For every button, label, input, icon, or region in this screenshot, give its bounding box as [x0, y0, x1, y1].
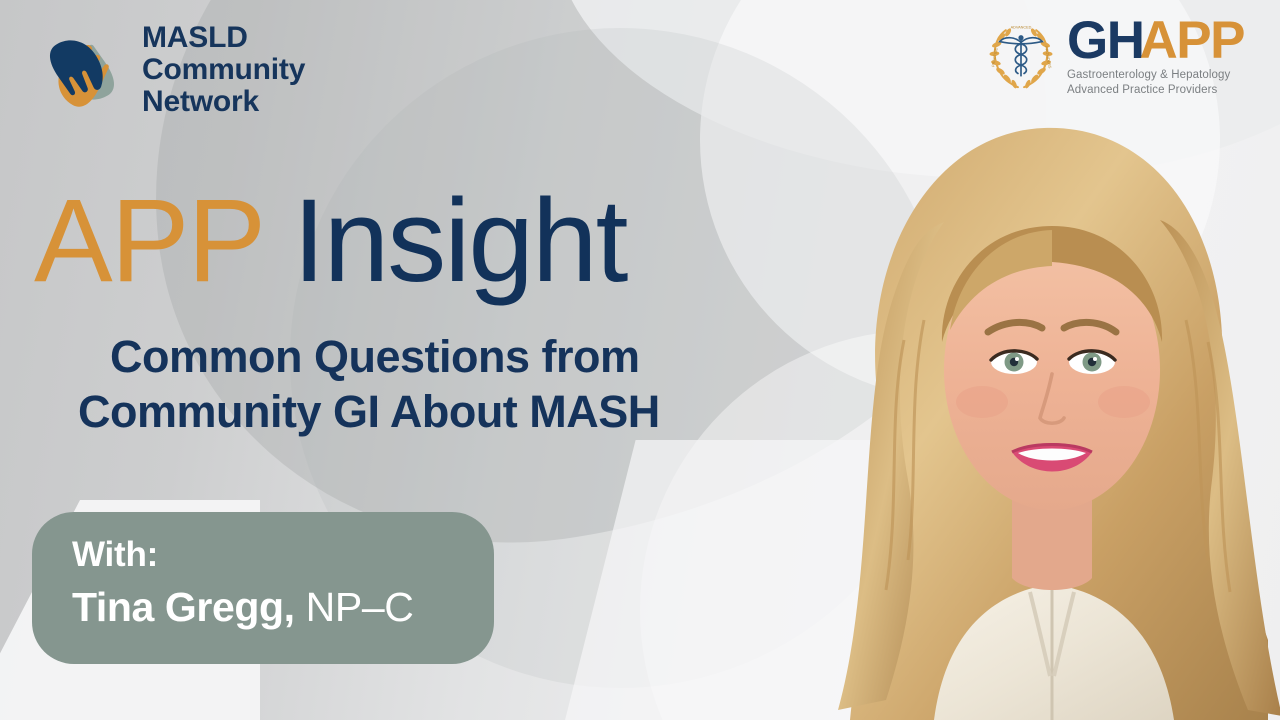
portrait-illustration: [816, 80, 1280, 720]
masld-logo-line2: Community: [142, 54, 305, 86]
masld-logo-line1: MASLD: [142, 22, 305, 54]
page-subtitle-line1: Common Questions from: [110, 331, 640, 382]
ghapp-wordmark: GHAPP: [1067, 16, 1244, 66]
speaker-portrait-photo: [816, 80, 1280, 720]
speaker-credentials: NP–C: [306, 584, 414, 630]
speaker-name-row: Tina Gregg, NP–C: [72, 585, 494, 630]
speaker-name: Tina Gregg,: [72, 584, 295, 630]
speaker-credit-pill: With: Tina Gregg, NP–C: [32, 512, 494, 664]
speaker-with-label: With:: [72, 534, 494, 575]
three-hands-circle-icon: [36, 22, 128, 118]
page-subtitle-line2: Community GI About MASH: [78, 385, 900, 440]
page-title: APP Insight: [34, 182, 626, 300]
page-title-insight: Insight: [293, 175, 627, 307]
ghapp-wordmark-app: APP: [1140, 11, 1244, 70]
masld-logo-line3: Network: [142, 86, 305, 118]
ghapp-wordmark-gh: GH: [1067, 11, 1144, 70]
masld-community-network-logo: MASLD Community Network: [36, 22, 305, 118]
promo-slide: MASLD Community Network: [0, 0, 1280, 720]
page-subtitle: Common Questions from Community GI About…: [110, 330, 900, 440]
masld-logo-wordmark: MASLD Community Network: [142, 22, 305, 117]
page-title-app: APP: [34, 175, 262, 307]
svg-text:ADVANCED: ADVANCED: [1011, 26, 1032, 30]
